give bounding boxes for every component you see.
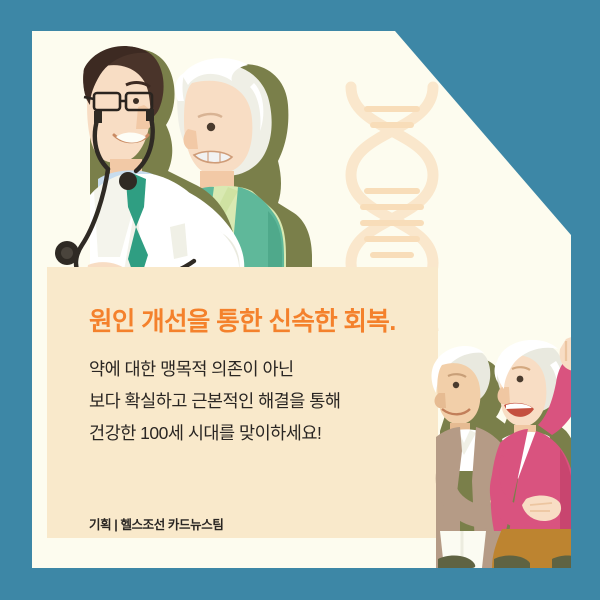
body-text: 약에 대한 맹목적 의존이 아닌 보다 확실하고 근본적인 해결을 통해 건강한… bbox=[89, 353, 340, 449]
text-panel: 원인 개선을 통한 신속한 회복. 약에 대한 맹목적 의존이 아닌 보다 확실… bbox=[47, 267, 438, 538]
senior-man-figure bbox=[432, 346, 530, 568]
senior-woman-figure bbox=[490, 336, 571, 568]
page-title: 원인 개선을 통한 신속한 회복. bbox=[89, 301, 396, 338]
card-news-slide: 원인 개선을 통한 신속한 회복. 약에 대한 맹목적 의존이 아닌 보다 확실… bbox=[0, 0, 600, 600]
body-line-3: 건강한 100세 시대를 맞이하세요! bbox=[89, 417, 340, 449]
body-line-1: 약에 대한 맹목적 의존이 아닌 bbox=[89, 353, 340, 385]
credit-line: 기획 | 헬스조선 카드뉴스팀 bbox=[89, 514, 223, 533]
body-line-2: 보다 확실하고 근본적인 해결을 통해 bbox=[89, 385, 340, 417]
content-card: 원인 개선을 통한 신속한 회복. 약에 대한 맹목적 의존이 아닌 보다 확실… bbox=[32, 31, 571, 568]
